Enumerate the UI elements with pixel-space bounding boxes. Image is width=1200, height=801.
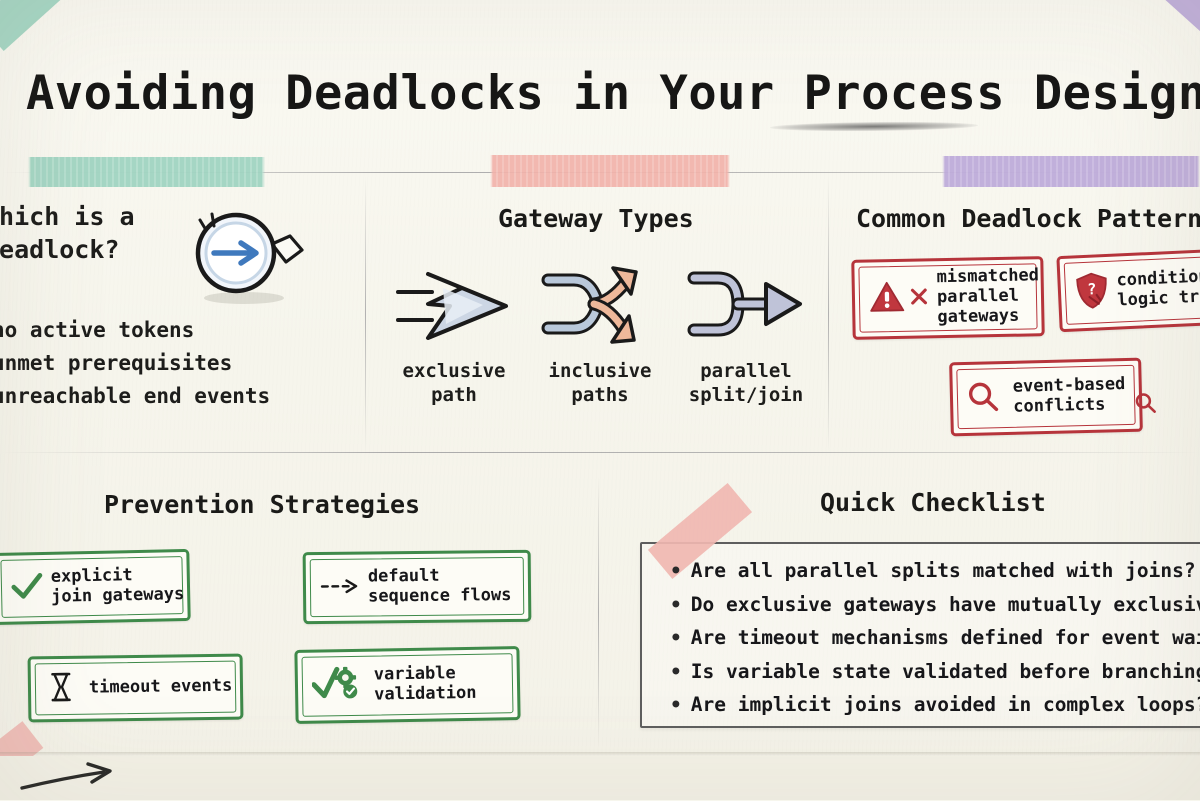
prevention-stamp-label: explicit join gateways xyxy=(51,565,185,607)
curved-arrow-icon xyxy=(18,762,128,796)
prevention-panel-heading: Prevention Strategies xyxy=(104,490,420,519)
deadlock-symptom-list: no active tokens unmet prerequisites unr… xyxy=(0,314,270,412)
page-title: Avoiding Deadlocks in Your Process Desig… xyxy=(26,66,1200,121)
x-mark-icon xyxy=(909,286,929,310)
magnifier-icon xyxy=(1133,391,1156,418)
gateway-caption-line2: paths xyxy=(532,384,668,408)
deadlock-symptom-item: unreachable end events xyxy=(0,380,270,413)
prevention-stamp-label: variable validation xyxy=(374,664,477,705)
pattern-stamp-event-based-conflicts[interactable]: event-based conflicts xyxy=(949,358,1143,437)
stamp-line2: sequence flows xyxy=(368,586,511,607)
stamp-line2: validation xyxy=(374,684,477,706)
pattern-stamp-label: event-based conflicts xyxy=(1013,375,1127,417)
gateway-caption-line2: split/join xyxy=(676,384,816,408)
divider-vertical-right xyxy=(828,176,829,452)
pattern-stamp-conditional-logic-traps[interactable]: ? conditional logic traps xyxy=(1056,248,1200,332)
paper-bottom-strip xyxy=(0,756,1200,800)
prevention-stamp-explicit-join-gateways[interactable]: explicit join gateways xyxy=(0,549,191,625)
gateway-caption-line1: exclusive xyxy=(386,360,522,384)
gateway-item-parallel: parallel split/join xyxy=(676,258,816,408)
gateway-item-inclusive: inclusive paths xyxy=(532,258,668,408)
gateway-caption: inclusive paths xyxy=(532,360,668,408)
stamp-line2: conflicts xyxy=(1013,395,1126,417)
washi-tape-strip-purple xyxy=(942,156,1200,187)
hourglass-icon xyxy=(49,671,74,707)
check-gear-icon xyxy=(312,665,367,708)
deadlock-panel-heading: Which is a Deadlock? xyxy=(0,200,135,266)
divider-vertical-left xyxy=(365,176,366,452)
svg-text:?: ? xyxy=(1087,280,1097,298)
gateway-panel-heading: Gateway Types xyxy=(498,204,694,233)
deadlock-heading-line1: Which is a xyxy=(0,200,135,233)
warning-triangle-icon xyxy=(869,280,906,319)
patterns-panel-heading: Common Deadlock Patterns xyxy=(856,204,1200,233)
gateway-item-exclusive: exclusive path xyxy=(386,258,522,408)
gateway-caption: exclusive path xyxy=(386,360,522,408)
prevention-stamp-label: timeout events xyxy=(89,677,233,699)
stamp-line2: join gateways xyxy=(51,585,184,608)
gateway-caption: parallel split/join xyxy=(676,360,816,408)
stamp-line2: parallel xyxy=(937,286,1040,308)
shield-question-icon: ? xyxy=(1074,271,1110,314)
exclusive-gateway-icon xyxy=(388,258,520,354)
checklist-item[interactable]: Are all parallel splits matched with joi… xyxy=(670,554,1200,588)
pattern-stamp-label: mismatched parallel gateways xyxy=(936,267,1039,328)
stamp-line3: gateways xyxy=(937,306,1040,328)
prevention-stamp-variable-validation[interactable]: variable validation xyxy=(294,646,520,724)
checklist-item[interactable]: Are timeout mechanisms defined for event… xyxy=(670,621,1200,655)
parallel-gateway-icon xyxy=(680,258,812,354)
washi-tape-strip-mint xyxy=(28,157,265,187)
deadlock-symptom-item: unmet prerequisites xyxy=(0,347,270,380)
prevention-stamp-timeout-events[interactable]: timeout events xyxy=(28,654,244,723)
stamp-line2: logic traps xyxy=(1117,286,1200,311)
divider-vertical-bottom xyxy=(598,476,599,748)
prevention-stamp-default-sequence-flows[interactable]: default sequence flows xyxy=(303,550,532,624)
deadlock-symptom-item: no active tokens xyxy=(0,314,270,347)
checklist-items: Are all parallel splits matched with joi… xyxy=(670,554,1200,722)
checklist-item[interactable]: Is variable state validated before branc… xyxy=(670,655,1200,689)
pattern-stamp-label: conditional logic traps xyxy=(1116,267,1200,312)
checklist-item[interactable]: Do exclusive gateways have mutually excl… xyxy=(670,588,1200,622)
check-icon xyxy=(11,572,44,606)
washi-tape-strip-pink xyxy=(490,155,730,187)
magnifier-token-gateway-icon xyxy=(186,206,308,310)
deadlock-heading-line2: Deadlock? xyxy=(0,233,135,266)
stamp-line1: timeout events xyxy=(89,677,233,699)
prevention-stamp-label: default sequence flows xyxy=(368,566,512,607)
inclusive-gateway-icon xyxy=(534,258,666,354)
checklist-panel-heading: Quick Checklist xyxy=(820,488,1046,517)
gateway-caption-line1: parallel xyxy=(676,360,816,384)
dashed-arrow-icon xyxy=(320,577,360,598)
checklist-item[interactable]: Are implicit joins avoided in complex lo… xyxy=(670,688,1200,722)
divider-horizontal-middle xyxy=(0,452,1200,453)
pattern-stamp-mismatched-gateways[interactable]: mismatched parallel gateways xyxy=(851,256,1045,340)
stamp-line1: mismatched xyxy=(936,267,1039,289)
gateway-caption-line2: path xyxy=(386,384,522,408)
magnifier-icon xyxy=(967,380,1000,417)
gateway-caption-line1: inclusive xyxy=(532,360,668,384)
